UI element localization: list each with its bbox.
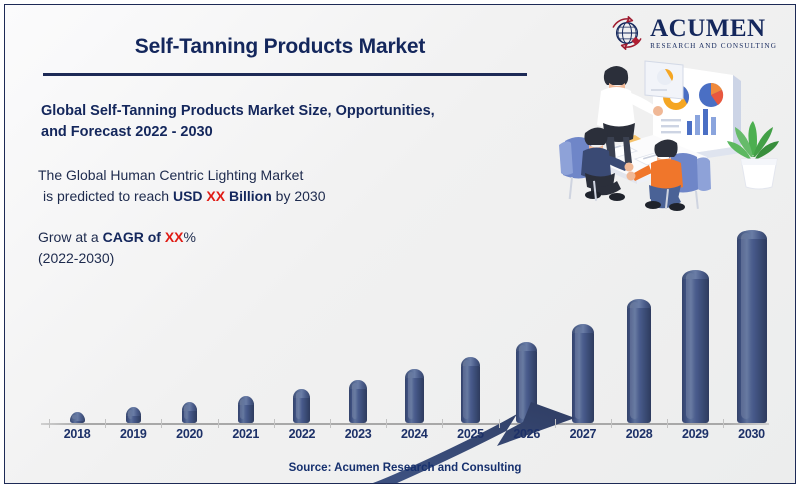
bar-2028	[627, 300, 651, 423]
billion-label: Billion	[229, 188, 272, 204]
source-caption: Source: Acumen Research and Consulting	[5, 462, 796, 474]
market-growth-bar-chart: 2018201920202021202220232024202520262027…	[5, 205, 796, 440]
statement-prefix: is predicted to reach	[43, 188, 173, 204]
x-axis-label-2020: 2020	[161, 427, 217, 441]
bar-2030	[737, 231, 767, 423]
bar-2019	[126, 408, 141, 423]
title-divider	[43, 73, 527, 76]
x-axis-label-2024: 2024	[386, 427, 442, 441]
brand-wordmark: ACUMEN RESEARCH AND CONSULTING	[650, 16, 777, 50]
market-statement: The Global Human Centric Lighting Market…	[38, 165, 458, 207]
infographic-poster: Self-Tanning Products Market Global Self…	[0, 0, 800, 488]
x-axis-label-2028: 2028	[611, 427, 667, 441]
brand-tagline: RESEARCH AND CONSULTING	[650, 43, 777, 50]
x-axis-label-2025: 2025	[442, 427, 498, 441]
tablet-graphic	[645, 61, 683, 99]
x-axis-label-2019: 2019	[105, 427, 161, 441]
brand-name: ACUMEN	[650, 16, 777, 41]
x-axis-label-2018: 2018	[49, 427, 105, 441]
page-title: Self-Tanning Products Market	[45, 35, 515, 59]
x-axis-label-2023: 2023	[330, 427, 386, 441]
business-meeting-illustration	[537, 59, 787, 211]
subtitle-line-2: and Forecast 2022 - 2030	[41, 124, 213, 140]
x-axis-label-2029: 2029	[667, 427, 723, 441]
subtitle-line-1: Global Self-Tanning Products Market Size…	[41, 103, 435, 119]
market-statement-line-2: is predicted to reach USD XX Billion by …	[38, 186, 326, 207]
x-axis-label-2030: 2030	[723, 427, 779, 441]
x-axis-label-2021: 2021	[218, 427, 274, 441]
brand-logo: ACUMEN RESEARCH AND CONSULTING	[609, 11, 777, 55]
statement-suffix: by 2030	[272, 188, 326, 204]
x-axis-label-2027: 2027	[555, 427, 611, 441]
market-statement-line-1: The Global Human Centric Lighting Market	[38, 167, 303, 183]
usd-label: USD	[173, 188, 203, 204]
x-axis-label-2026: 2026	[499, 427, 555, 441]
globe-icon	[609, 15, 645, 51]
bar-2018	[70, 413, 85, 423]
x-axis-label-2022: 2022	[274, 427, 330, 441]
usd-value-placeholder: XX	[206, 188, 225, 204]
bar-2029	[682, 271, 709, 423]
poster-frame: Self-Tanning Products Market Global Self…	[4, 4, 796, 484]
subtitle: Global Self-Tanning Products Market Size…	[41, 101, 481, 142]
